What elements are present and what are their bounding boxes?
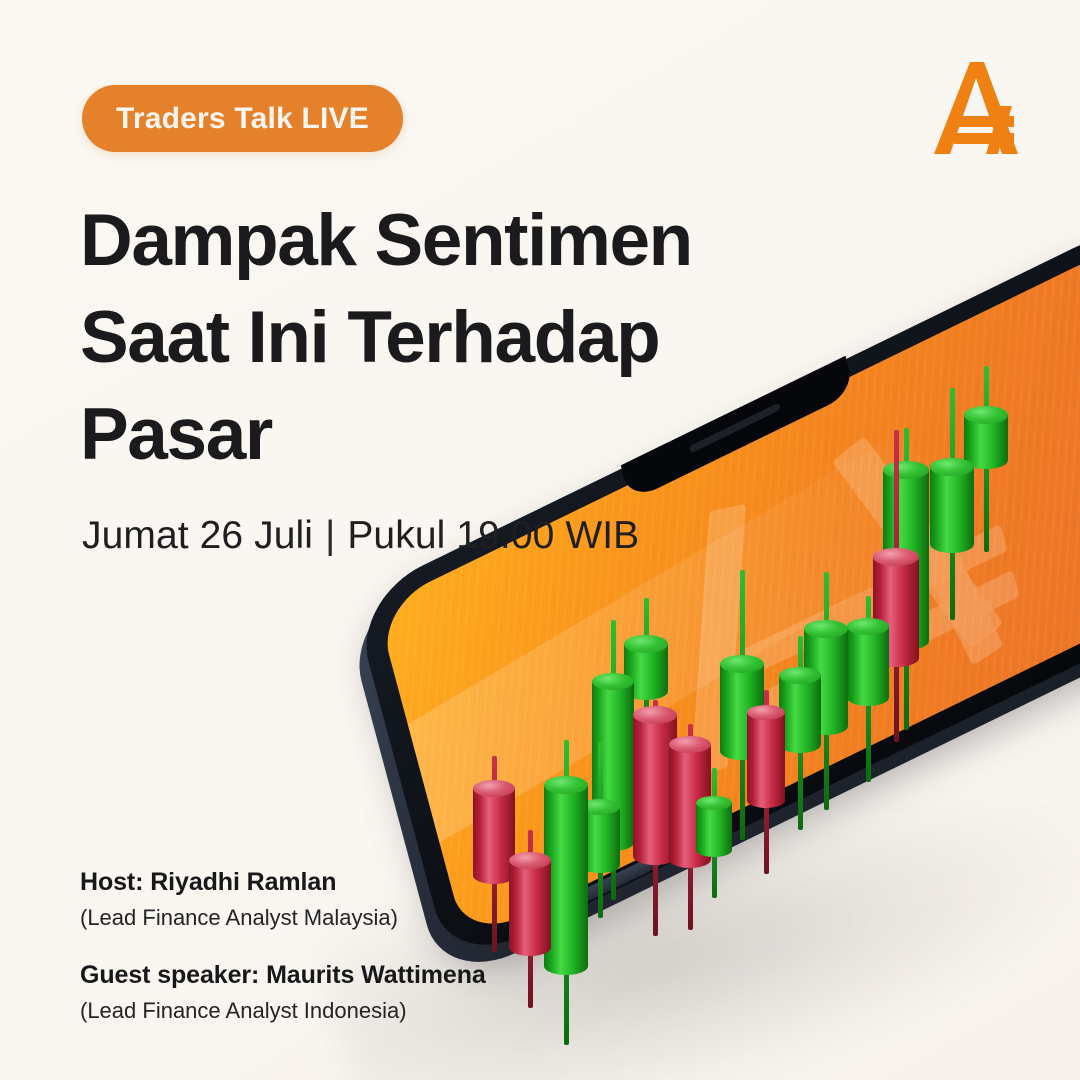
page-title: Dampak Sentimen Saat Ini Terhadap Pasar	[80, 192, 840, 483]
credit-guest-role: (Lead Finance Analyst Indonesia)	[80, 996, 600, 1026]
poster-canvas: Traders Talk LIVE Dampak Sentimen Saat I…	[0, 0, 1080, 1080]
credit-host-role: (Lead Finance Analyst Malaysia)	[80, 903, 600, 933]
headline-line-1: Dampak Sentimen	[80, 192, 840, 289]
brand-logo-a-icon	[930, 58, 1022, 158]
headline-line-3: Pasar	[80, 386, 840, 483]
content-layer: Traders Talk LIVE Dampak Sentimen Saat I…	[0, 0, 1080, 1080]
event-time: Pukul 19.00 WIB	[347, 514, 639, 557]
credit-guest: Guest speaker: Maurits Wattimena (Lead F…	[80, 959, 600, 1026]
credit-guest-name: Guest speaker: Maurits Wattimena	[80, 959, 600, 993]
live-badge-label: Traders Talk LIVE	[116, 102, 369, 136]
event-datetime: Jumat 26 Juli|Pukul 19.00 WIB	[82, 514, 639, 558]
event-date: Jumat 26 Juli	[82, 514, 313, 557]
datetime-separator: |	[325, 514, 335, 557]
headline-line-2: Saat Ini Terhadap	[80, 289, 840, 386]
credit-host-name: Host: Riyadhi Ramlan	[80, 866, 600, 900]
credit-host: Host: Riyadhi Ramlan (Lead Finance Analy…	[80, 866, 600, 933]
speaker-credits: Host: Riyadhi Ramlan (Lead Finance Analy…	[80, 866, 600, 1052]
live-badge: Traders Talk LIVE	[82, 85, 403, 152]
